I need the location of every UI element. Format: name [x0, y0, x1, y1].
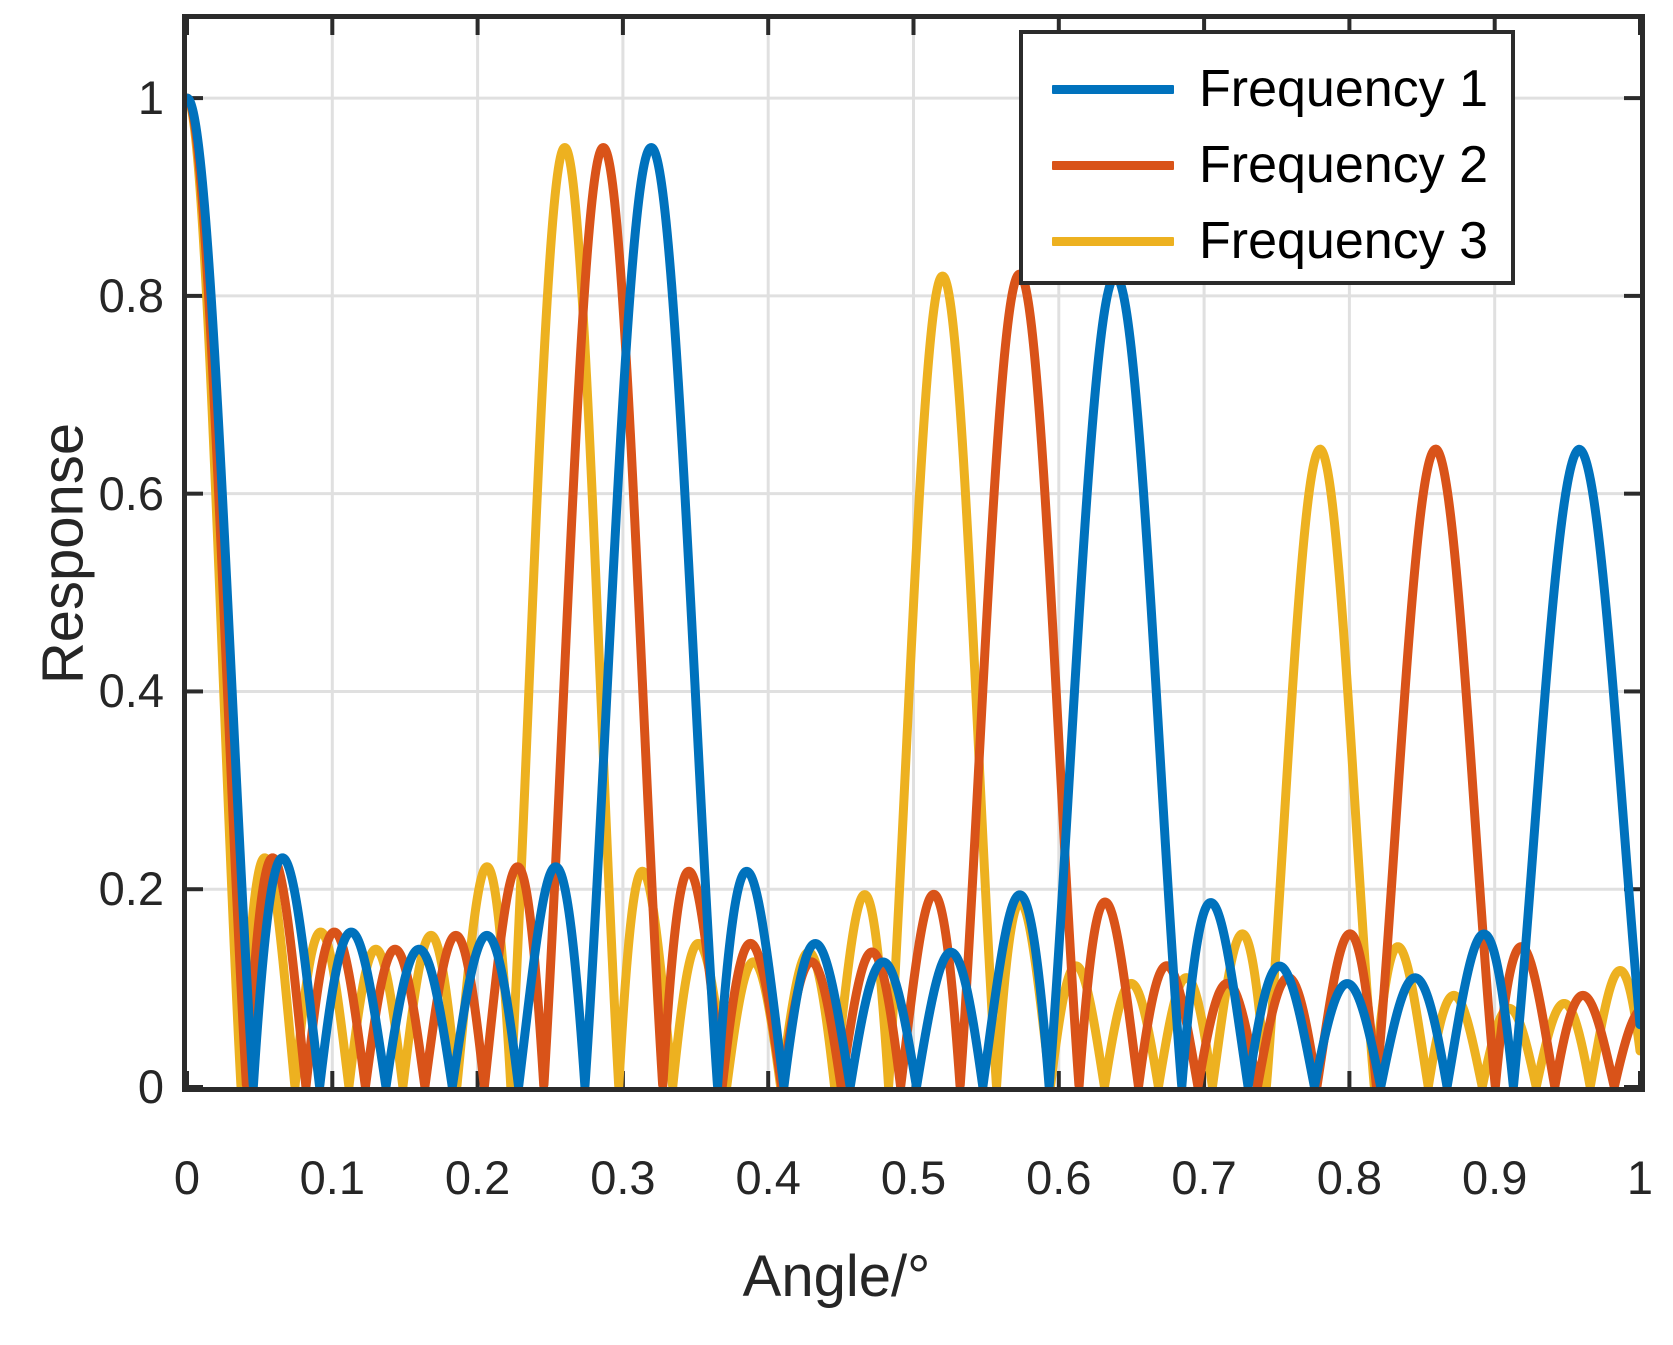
- legend-label-3: Frequency 3: [1199, 215, 1488, 267]
- legend-item-2[interactable]: Frequency 2: [1023, 130, 1511, 200]
- x-tick-label-5: 0.5: [834, 1154, 994, 1201]
- x-tick-label-6: 0.6: [979, 1154, 1139, 1201]
- legend-item-1[interactable]: Frequency 1: [1023, 54, 1511, 124]
- x-tick-label-8: 0.8: [1269, 1154, 1429, 1201]
- chart-figure: 00.20.40.60.81 00.10.20.30.40.50.60.70.8…: [0, 0, 1673, 1345]
- x-tick-label-1: 0.1: [252, 1154, 412, 1201]
- legend-color-swatch-1: [1052, 85, 1174, 94]
- legend-item-3[interactable]: Frequency 3: [1023, 206, 1511, 276]
- y-axis-title: Response: [30, 234, 97, 874]
- y-tick-label-0: 0: [0, 1063, 164, 1110]
- y-tick-label-5: 1: [0, 74, 164, 121]
- legend-label-1: Frequency 1: [1199, 63, 1488, 115]
- x-tick-label-10: 1: [1560, 1154, 1673, 1201]
- legend-label-2: Frequency 2: [1199, 139, 1488, 191]
- legend-color-swatch-3: [1052, 237, 1174, 246]
- x-tick-label-9: 0.9: [1415, 1154, 1575, 1201]
- x-tick-label-4: 0.4: [688, 1154, 848, 1201]
- x-tick-label-0: 0: [107, 1154, 267, 1201]
- x-tick-label-3: 0.3: [543, 1154, 703, 1201]
- x-tick-label-7: 0.7: [1124, 1154, 1284, 1201]
- x-tick-label-2: 0.2: [398, 1154, 558, 1201]
- chart-legend[interactable]: Frequency 1Frequency 2Frequency 3: [1019, 30, 1515, 285]
- legend-color-swatch-2: [1052, 161, 1174, 170]
- x-axis-title: Angle/°: [0, 1243, 1673, 1310]
